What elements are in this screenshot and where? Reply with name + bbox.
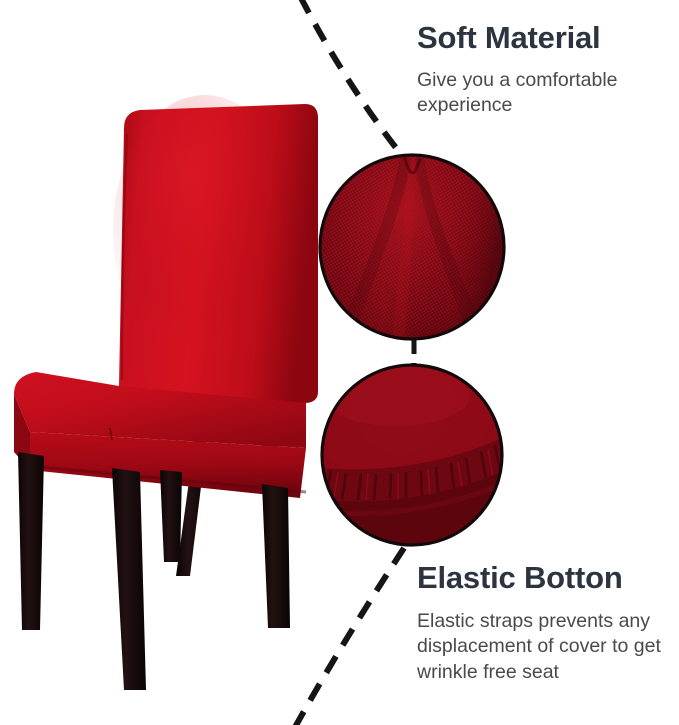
callout-soft-material: Soft Material Give you a comfortable exp… bbox=[417, 22, 665, 119]
soft-material-description: Give you a comfortable experience bbox=[417, 68, 665, 119]
callout-elastic-bottom: Elastic Botton Elastic straps prevents a… bbox=[417, 562, 665, 686]
elastic-bottom-description: Elastic straps prevents any displacement… bbox=[417, 609, 665, 686]
soft-material-title: Soft Material bbox=[417, 22, 665, 55]
fabric-texture-swatch bbox=[318, 153, 508, 343]
elastic-hem-swatch bbox=[320, 363, 506, 549]
elastic-bottom-title: Elastic Botton bbox=[417, 562, 665, 595]
product-infographic: Soft Material Give you a comfortable exp… bbox=[0, 0, 679, 725]
